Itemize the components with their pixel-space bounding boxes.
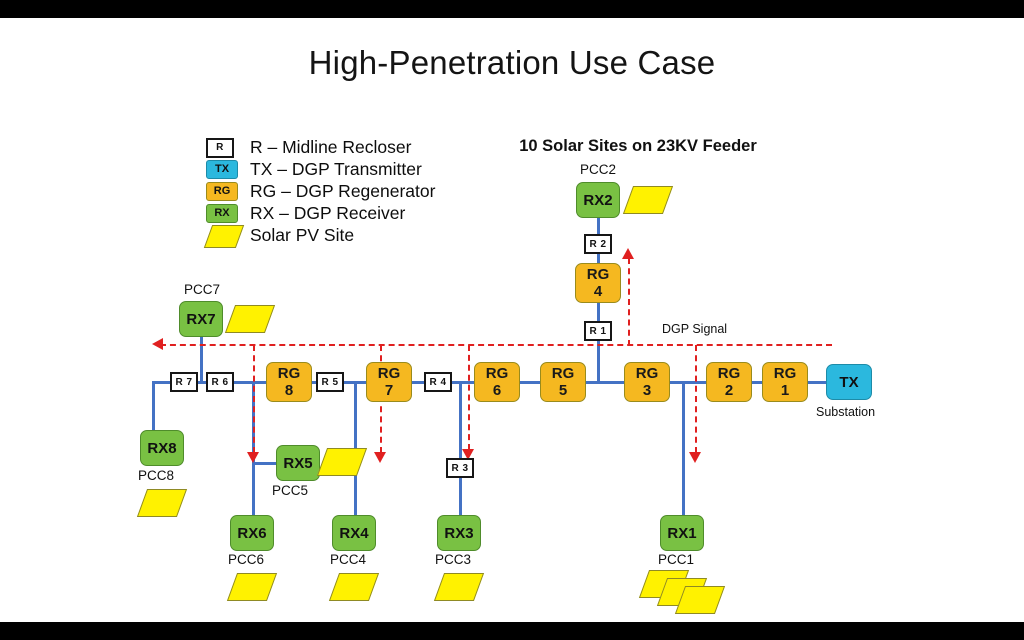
- dgp-signal-arrow-rg8: [247, 452, 259, 463]
- regenerator-rg7-type: RG: [378, 365, 401, 382]
- solar-site-pcc3: [434, 573, 484, 601]
- solar-site-pcc1-c: [675, 586, 725, 614]
- regenerator-icon: RG: [206, 182, 240, 201]
- screenshot-frame: High-Penetration Use Case 10 Solar Sites…: [0, 0, 1024, 640]
- legend-label-recloser: R – Midline Recloser: [250, 137, 411, 158]
- receiver-rx1[interactable]: RX1: [660, 515, 704, 551]
- receiver-rx7[interactable]: RX7: [179, 301, 223, 337]
- regenerator-rg3[interactable]: RG 3: [624, 362, 670, 402]
- branch-line-rx8: [152, 381, 155, 430]
- transmitter-tx[interactable]: TX: [826, 364, 872, 400]
- diagram-canvas: High-Penetration Use Case 10 Solar Sites…: [0, 18, 1024, 622]
- pcc-label-pcc1: PCC1: [658, 552, 694, 567]
- legend-transmitter-symbol: TX: [206, 160, 238, 179]
- regenerator-rg3-type: RG: [636, 365, 659, 382]
- recloser-r7[interactable]: R 7: [170, 372, 198, 392]
- legend-receiver-symbol: RX: [206, 204, 238, 223]
- legend-item-transmitter: TX TX – DGP Transmitter: [206, 158, 435, 180]
- legend-item-regenerator: RG RG – DGP Regenerator: [206, 180, 435, 202]
- solar-site-pcc4: [329, 573, 379, 601]
- dgp-signal-arrow-up: [622, 248, 634, 259]
- recloser-icon: R: [206, 138, 240, 157]
- legend-regenerator-symbol: RG: [206, 182, 238, 201]
- dgp-signal-main: [160, 344, 832, 346]
- dgp-signal-branch-r3: [468, 345, 470, 450]
- dgp-signal-arrow-rx1: [689, 452, 701, 463]
- regenerator-rg4[interactable]: RG 4: [575, 263, 621, 303]
- dgp-signal-branch-rx1: [695, 345, 697, 453]
- legend: R R – Midline Recloser TX TX – DGP Trans…: [206, 136, 435, 246]
- regenerator-rg4-number: 4: [594, 283, 602, 300]
- regenerator-rg2-number: 2: [725, 382, 733, 399]
- pcc-label-pcc8: PCC8: [138, 468, 174, 483]
- pcc-label-pcc2: PCC2: [580, 162, 616, 177]
- pcc-label-pcc7: PCC7: [184, 282, 220, 297]
- legend-label-receiver: RX – DGP Receiver: [250, 203, 405, 224]
- pcc-label-pcc6: PCC6: [228, 552, 264, 567]
- pcc-label-pcc4: PCC4: [330, 552, 366, 567]
- solar-site-pcc5: [317, 448, 367, 476]
- dgp-signal-branch-rg8: [253, 345, 255, 453]
- regenerator-rg6[interactable]: RG 6: [474, 362, 520, 402]
- recloser-r1[interactable]: R 1: [584, 321, 612, 341]
- solar-site-pcc7: [225, 305, 275, 333]
- regenerator-rg4-type: RG: [587, 266, 610, 283]
- legend-item-receiver: RX RX – DGP Receiver: [206, 202, 435, 224]
- regenerator-rg5-type: RG: [552, 365, 575, 382]
- receiver-rx8[interactable]: RX8: [140, 430, 184, 466]
- receiver-icon: RX: [206, 204, 240, 223]
- regenerator-rg7-number: 7: [385, 382, 393, 399]
- regenerator-rg8[interactable]: RG 8: [266, 362, 312, 402]
- recloser-r6[interactable]: R 6: [206, 372, 234, 392]
- receiver-rx2[interactable]: RX2: [576, 182, 620, 218]
- recloser-r2[interactable]: R 2: [584, 234, 612, 254]
- branch-line-rx1: [682, 381, 685, 516]
- regenerator-rg5-number: 5: [559, 382, 567, 399]
- regenerator-rg1[interactable]: RG 1: [762, 362, 808, 402]
- regenerator-rg2[interactable]: RG 2: [706, 362, 752, 402]
- solar-site-pcc6: [227, 573, 277, 601]
- receiver-rx5[interactable]: RX5: [276, 445, 320, 481]
- transmitter-icon: TX: [206, 160, 240, 179]
- legend-solar-symbol: [204, 225, 244, 248]
- regenerator-rg6-number: 6: [493, 382, 501, 399]
- receiver-rx3[interactable]: RX3: [437, 515, 481, 551]
- solar-site-pcc8: [137, 489, 187, 517]
- receiver-rx6[interactable]: RX6: [230, 515, 274, 551]
- legend-label-regenerator: RG – DGP Regenerator: [250, 181, 435, 202]
- legend-label-transmitter: TX – DGP Transmitter: [250, 159, 422, 180]
- regenerator-rg1-type: RG: [774, 365, 797, 382]
- pcc-label-pcc5: PCC5: [272, 483, 308, 498]
- regenerator-rg5[interactable]: RG 5: [540, 362, 586, 402]
- dgp-signal-branch-up: [628, 258, 630, 346]
- receiver-rx4[interactable]: RX4: [332, 515, 376, 551]
- regenerator-rg3-number: 3: [643, 382, 651, 399]
- solar-site-pcc2: [623, 186, 673, 214]
- recloser-r4[interactable]: R 4: [424, 372, 452, 392]
- regenerator-rg1-number: 1: [781, 382, 789, 399]
- regenerator-rg8-type: RG: [278, 365, 301, 382]
- substation-label: Substation: [816, 405, 875, 419]
- feeder-subtitle: 10 Solar Sites on 23KV Feeder: [516, 137, 760, 156]
- page-title: High-Penetration Use Case: [0, 44, 1024, 82]
- recloser-r5[interactable]: R 5: [316, 372, 344, 392]
- regenerator-rg7[interactable]: RG 7: [366, 362, 412, 402]
- legend-item-recloser: R R – Midline Recloser: [206, 136, 435, 158]
- pcc-label-pcc3: PCC3: [435, 552, 471, 567]
- legend-item-solar: Solar PV Site: [206, 224, 435, 246]
- regenerator-rg6-type: RG: [486, 365, 509, 382]
- regenerator-rg2-type: RG: [718, 365, 741, 382]
- recloser-r3[interactable]: R 3: [446, 458, 474, 478]
- dgp-signal-arrow-left: [152, 338, 163, 350]
- solar-panel-icon: [206, 226, 240, 245]
- dgp-signal-arrow-rg7: [374, 452, 386, 463]
- legend-recloser-symbol: R: [206, 138, 234, 158]
- regenerator-rg8-number: 8: [285, 382, 293, 399]
- legend-label-solar: Solar PV Site: [250, 225, 354, 246]
- dgp-signal-label: DGP Signal: [662, 322, 727, 336]
